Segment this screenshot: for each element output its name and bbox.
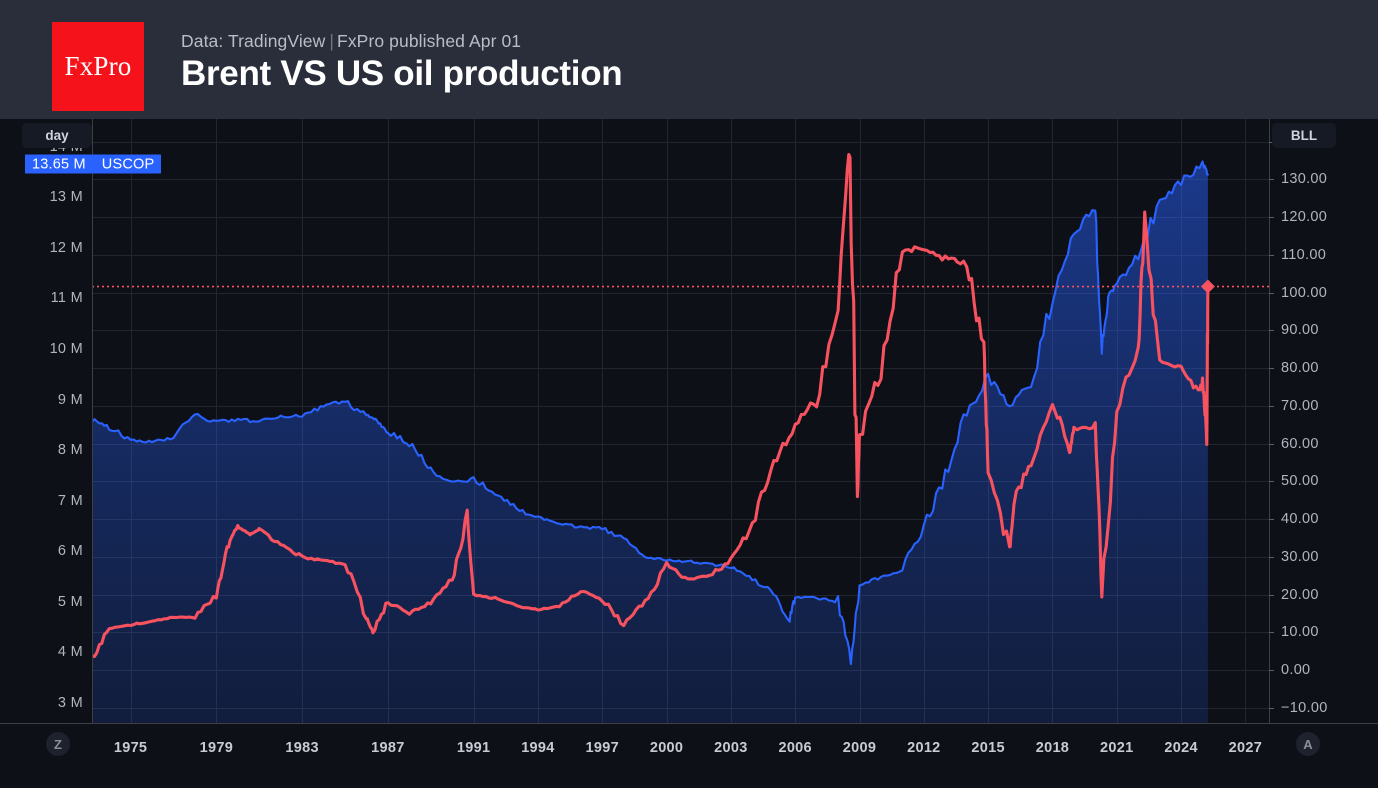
time-axis-tick-label: 2003 bbox=[714, 740, 747, 756]
left-axis-tick-label: 4 M bbox=[58, 644, 83, 660]
header-source-line: Data: TradingView|FxPro published Apr 01 bbox=[181, 31, 521, 52]
plot-area[interactable] bbox=[92, 119, 1269, 723]
right-axis-tick-mark bbox=[1269, 330, 1274, 331]
right-axis-tick-label: 10.00 bbox=[1281, 624, 1319, 640]
left-axis-tick-label: 11 M bbox=[51, 290, 83, 306]
right-axis-tick-label: 30.00 bbox=[1281, 549, 1319, 565]
time-axis-tick-label: 2012 bbox=[907, 740, 940, 756]
fxpro-logo: FxPro bbox=[52, 22, 144, 111]
time-axis-tick-label: 2024 bbox=[1164, 740, 1197, 756]
time-axis-tick-label: 2009 bbox=[843, 740, 876, 756]
time-axis-tick-label: 2027 bbox=[1229, 740, 1262, 756]
production-area-fill bbox=[92, 162, 1208, 724]
right-axis-tick-mark bbox=[1269, 255, 1274, 256]
right-axis-tick-label: 50.00 bbox=[1281, 473, 1319, 489]
chart-container: day BLL 13.65 M USCOP 14 M bbox=[0, 119, 1378, 788]
right-axis-tick-label: 70.00 bbox=[1281, 398, 1319, 414]
left-axis-separator bbox=[92, 119, 93, 723]
right-price-scale[interactable]: UKOIL 101.62 29d 14h 140.00130.00120.001… bbox=[1269, 119, 1378, 723]
time-axis-tick-label: 2018 bbox=[1036, 740, 1069, 756]
right-axis-tick-mark bbox=[1269, 670, 1274, 671]
right-axis-tick-mark bbox=[1269, 179, 1274, 180]
right-axis-tick-mark bbox=[1269, 368, 1274, 369]
uscop-symbol-label: USCOP bbox=[92, 156, 162, 172]
right-axis-tick-label: 100.00 bbox=[1281, 285, 1327, 301]
right-axis-tick-label: −10.00 bbox=[1281, 700, 1328, 716]
right-axis-tick-mark bbox=[1269, 444, 1274, 445]
header-source-suffix: FxPro published Apr 01 bbox=[337, 31, 521, 51]
uscop-value-label: 13.65 M bbox=[25, 156, 92, 172]
left-axis-tick-label: 10 M bbox=[50, 341, 83, 357]
right-axis-tick-label: 130.00 bbox=[1281, 171, 1327, 187]
right-axis-tick-mark bbox=[1269, 217, 1274, 218]
page-title: Brent VS US oil production bbox=[181, 54, 622, 94]
time-axis-tick-label: 2000 bbox=[650, 740, 683, 756]
right-axis-tick-mark bbox=[1269, 406, 1274, 407]
interval-tag[interactable]: day bbox=[22, 123, 92, 148]
time-axis-tick-label: 2015 bbox=[971, 740, 1004, 756]
left-axis-tick-label: 13 M bbox=[50, 189, 83, 205]
left-axis-tick-label: 9 M bbox=[58, 392, 83, 408]
left-price-scale[interactable]: 13.65 M USCOP 14 M13 M12 M11 M10 M9 M8 M… bbox=[0, 119, 92, 723]
uscop-last-value-badge: 13.65 M USCOP bbox=[25, 155, 161, 174]
header-source-prefix: Data: TradingView bbox=[181, 31, 325, 51]
zoom-out-button[interactable]: Z bbox=[46, 732, 70, 756]
time-axis-tick-label: 1979 bbox=[200, 740, 233, 756]
time-axis-tick-label: 1987 bbox=[371, 740, 404, 756]
right-axis-tick-label: 0.00 bbox=[1281, 662, 1310, 678]
fxpro-logo-text: FxPro bbox=[64, 51, 131, 82]
time-axis-tick-label: 2006 bbox=[778, 740, 811, 756]
right-axis-tick-mark bbox=[1269, 708, 1274, 709]
time-axis-tick-label: 1975 bbox=[114, 740, 147, 756]
left-axis-tick-label: 5 M bbox=[58, 594, 83, 610]
right-axis-tick-mark bbox=[1269, 557, 1274, 558]
page-header: FxPro Data: TradingView|FxPro published … bbox=[0, 0, 1378, 119]
right-axis-tick-mark bbox=[1269, 519, 1274, 520]
right-axis-tick-mark bbox=[1269, 293, 1274, 294]
left-axis-tick-label: 6 M bbox=[58, 543, 83, 559]
right-axis-tick-label: 110.00 bbox=[1281, 247, 1326, 263]
right-axis-tick-label: 20.00 bbox=[1281, 587, 1319, 603]
time-axis-tick-label: 1994 bbox=[521, 740, 554, 756]
time-axis[interactable]: Z A 197519791983198719911994199720002003… bbox=[0, 724, 1378, 788]
alert-button[interactable]: A bbox=[1296, 732, 1320, 756]
right-axis-tick-label: 40.00 bbox=[1281, 511, 1319, 527]
left-axis-tick-label: 12 M bbox=[50, 240, 83, 256]
left-axis-tick-label: 7 M bbox=[58, 493, 83, 509]
right-axis-tick-label: 90.00 bbox=[1281, 322, 1319, 338]
right-axis-tick-mark bbox=[1269, 595, 1274, 596]
right-axis-tick-mark bbox=[1269, 481, 1274, 482]
right-axis-tick-label: 80.00 bbox=[1281, 360, 1319, 376]
chart-plot-svg bbox=[92, 119, 1269, 723]
unit-tag[interactable]: BLL bbox=[1272, 123, 1336, 148]
time-axis-tick-label: 1983 bbox=[285, 740, 318, 756]
right-axis-tick-label: 60.00 bbox=[1281, 436, 1319, 452]
header-source-separator: | bbox=[329, 31, 334, 51]
time-axis-tick-label: 1997 bbox=[586, 740, 619, 756]
right-axis-tick-mark bbox=[1269, 632, 1274, 633]
time-axis-tick-label: 2021 bbox=[1100, 740, 1133, 756]
left-axis-tick-label: 3 M bbox=[58, 695, 83, 711]
time-axis-tick-label: 1991 bbox=[457, 740, 490, 756]
left-axis-tick-label: 8 M bbox=[58, 442, 83, 458]
right-axis-tick-label: 120.00 bbox=[1281, 209, 1327, 225]
